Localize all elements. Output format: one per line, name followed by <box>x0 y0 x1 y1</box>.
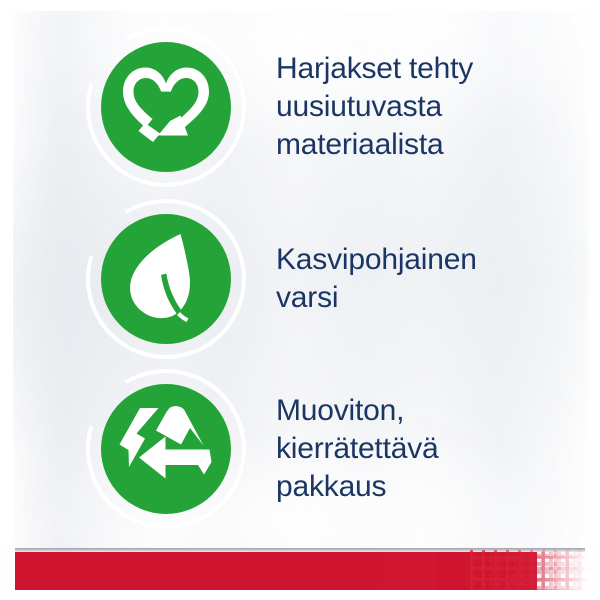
page-margin-bottom <box>0 590 600 600</box>
feature-icon-badge <box>84 197 248 361</box>
recycling-heart-icon <box>118 61 214 153</box>
feature-item-plant-based-handle: Kasvipohjainen varsi <box>84 190 554 368</box>
feature-item-renewable-bristles: Harjakset tehty uusiutuvasta materiaalis… <box>84 18 554 196</box>
badge-disc <box>101 214 231 344</box>
footer-pixel-sparkle <box>470 550 590 592</box>
footer-band <box>0 540 600 600</box>
feature-item-recyclable-packaging: Muoviton, kierrätettävä pakkaus <box>84 360 554 538</box>
feature-list: Harjakset tehty uusiutuvasta materiaalis… <box>0 0 600 545</box>
badge-disc <box>101 384 231 514</box>
feature-icon-badge <box>84 367 248 531</box>
leaf-icon <box>125 231 207 327</box>
feature-caption: Harjakset tehty uusiutuvasta materiaalis… <box>248 50 554 164</box>
feature-caption: Muoviton, kierrätettävä pakkaus <box>248 392 554 506</box>
recycling-triangle-icon <box>118 405 214 493</box>
feature-caption: Kasvipohjainen varsi <box>248 241 554 317</box>
badge-disc <box>101 42 231 172</box>
product-feature-panel: Harjakset tehty uusiutuvasta materiaalis… <box>0 0 600 600</box>
feature-icon-badge <box>84 25 248 189</box>
